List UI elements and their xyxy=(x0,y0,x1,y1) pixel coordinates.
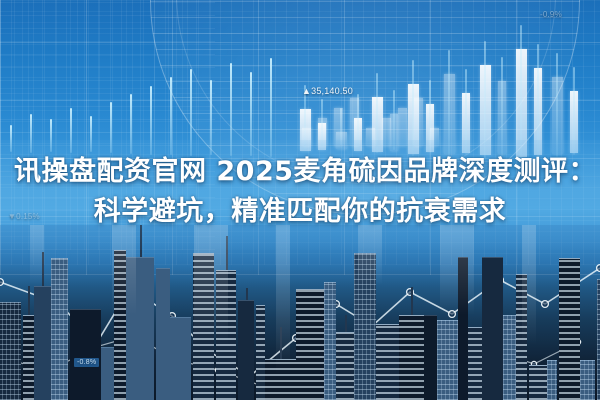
headline-line-1: 讯操盘配资官网 2025麦角硫因品牌深度测评： xyxy=(14,152,586,192)
building xyxy=(559,258,580,400)
trendline-node xyxy=(0,279,3,286)
building xyxy=(468,327,482,400)
candle-wick xyxy=(150,86,152,155)
chart-bar xyxy=(350,98,359,146)
building xyxy=(34,286,51,400)
building xyxy=(23,315,34,400)
building xyxy=(354,253,376,400)
chart-bar xyxy=(414,98,423,146)
building xyxy=(529,365,547,400)
building xyxy=(101,347,114,400)
chart-bar xyxy=(302,128,311,146)
building xyxy=(70,309,101,400)
candle-wick xyxy=(110,102,112,153)
building xyxy=(547,360,557,400)
candle-wick xyxy=(210,80,212,155)
candle-wick xyxy=(10,125,12,152)
candle-wick xyxy=(501,57,503,156)
candle-wick xyxy=(520,25,522,163)
percent-top-right: -0.9% xyxy=(540,10,562,19)
building xyxy=(216,270,236,400)
building xyxy=(324,282,336,400)
building xyxy=(114,250,126,400)
candle-wick xyxy=(250,72,252,156)
building xyxy=(516,274,527,400)
candle-wick xyxy=(556,53,558,158)
candle-wick xyxy=(90,116,92,152)
headline-line-2: 科学避坑，精准匹配你的抗衰需求 xyxy=(14,192,586,232)
chart-bar xyxy=(366,128,375,146)
chart-bar xyxy=(318,118,327,146)
chart-bar xyxy=(382,118,391,146)
building xyxy=(156,268,170,400)
trendline-node xyxy=(597,265,600,272)
building xyxy=(399,315,424,400)
candle-wick xyxy=(30,114,32,153)
building xyxy=(51,258,68,400)
chart-bar xyxy=(398,108,407,146)
chart-bar xyxy=(334,108,343,146)
headline-block: 讯操盘配资官网 2025麦角硫因品牌深度测评： 科学避坑，精准匹配你的抗衰需求 xyxy=(0,152,600,232)
candle-wick xyxy=(70,108,72,153)
candle-wick xyxy=(130,94,132,154)
candle-wick xyxy=(170,77,172,155)
percent-chip-city: -0.8% xyxy=(74,358,99,367)
candle-wick xyxy=(50,119,52,152)
candle-wick xyxy=(190,69,192,156)
candle-wick xyxy=(393,90,395,150)
building xyxy=(458,257,468,400)
building xyxy=(424,315,437,400)
building xyxy=(437,320,458,400)
candle-wick xyxy=(573,67,575,155)
banner-image: 讯操盘配资官网 2025麦角硫因品牌深度测评： 科学避坑，精准匹配你的抗衰需求 … xyxy=(0,0,600,400)
building xyxy=(482,257,503,400)
building xyxy=(0,302,21,400)
building xyxy=(336,332,354,400)
building xyxy=(265,359,296,400)
building xyxy=(503,315,516,400)
trendline-node xyxy=(449,311,456,318)
building xyxy=(193,253,214,400)
building xyxy=(376,324,399,400)
candle-wick xyxy=(448,50,450,158)
candle-wick xyxy=(376,73,378,153)
trendline-node xyxy=(542,301,549,308)
candle-wick xyxy=(270,58,272,157)
candle-wick xyxy=(484,41,486,160)
chart-bar xyxy=(430,128,439,146)
index-value-label: ▲35,140.50 xyxy=(302,86,353,96)
candle-wick xyxy=(230,63,232,156)
building xyxy=(170,317,191,400)
candle-wick xyxy=(537,44,539,160)
building xyxy=(126,257,154,400)
building xyxy=(580,360,595,400)
building xyxy=(296,289,324,400)
building xyxy=(256,305,265,400)
candle-wick xyxy=(465,69,467,154)
building xyxy=(238,300,254,400)
